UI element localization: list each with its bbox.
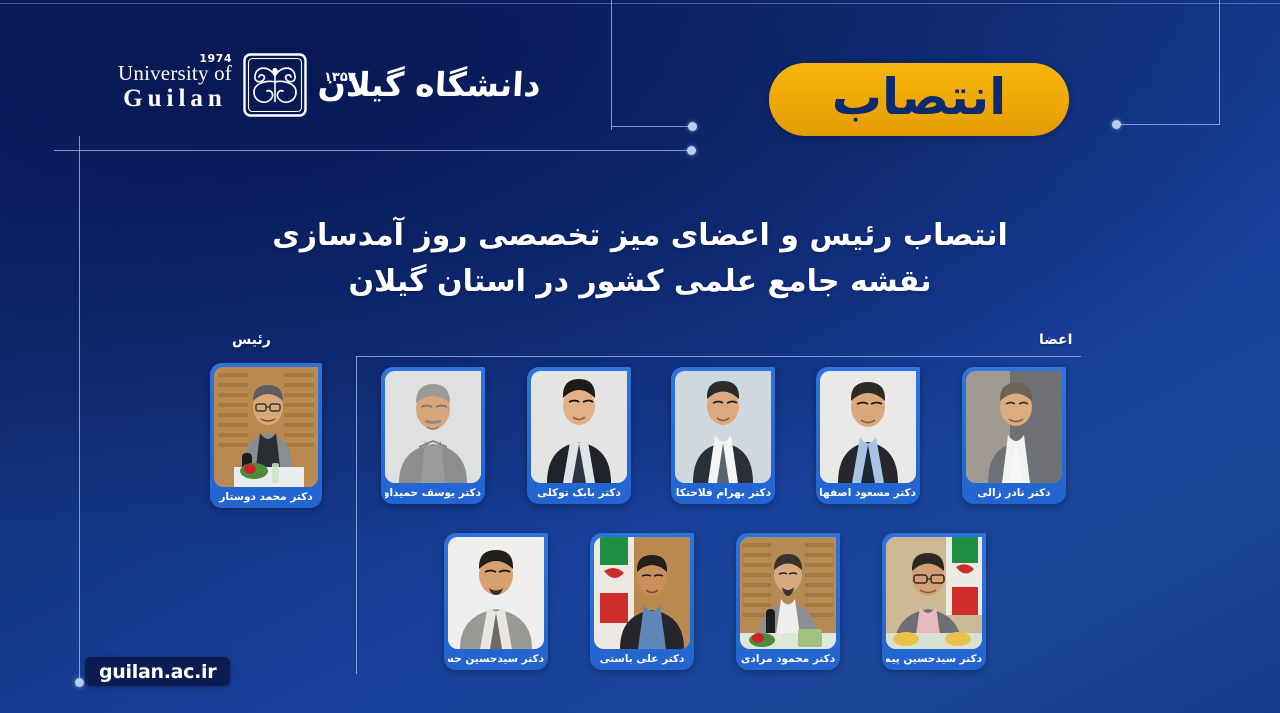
portrait-photo [675, 371, 771, 483]
portrait-photo [214, 367, 318, 487]
decor-dot-right [1112, 120, 1121, 129]
person-card-member[interactable]: دکتر نادر زالی [962, 367, 1066, 504]
logo-name-persian: دانشگاه گیلان [317, 64, 598, 105]
person-card-member[interactable]: دکتر علی باستی [590, 533, 694, 670]
person-name: دکتر بابک توکلی [531, 483, 627, 504]
person-name: دکتر بهرام فلاحتکار [675, 483, 771, 504]
portrait-photo [385, 371, 481, 483]
poster-canvas: 1974 University of Guilan ۱۳۵۳ دانشگاه گ… [0, 0, 1280, 713]
butterfly-emblem-icon [242, 52, 308, 118]
portrait-photo [594, 537, 690, 649]
person-name: دکتر یوسف حمیداوغلی [385, 483, 481, 504]
website-url-text: guilan.ac.ir [99, 661, 216, 683]
logo-line-guilan: Guilan [118, 86, 232, 111]
decor-line-h-lower [54, 150, 692, 151]
page-title-line-2: نقشه جامع علمی کشور در استان گیلان [0, 259, 1280, 305]
person-card-member[interactable]: دکتر یوسف حمیداوغلی [381, 367, 485, 504]
person-card-member[interactable]: دکتر بابک توکلی [527, 367, 631, 504]
status-badge: انتصاب [769, 63, 1069, 136]
person-name: دکتر سیدحسین پیمان [886, 649, 982, 670]
person-card-member[interactable]: دکتر مسعود اصفهانی [816, 367, 920, 504]
decor-line-vertical-top-right [1219, 0, 1220, 125]
logo-line-university-of: University of [118, 63, 232, 84]
decor-line-vertical-top-left [611, 0, 612, 130]
status-badge-label: انتصاب [832, 72, 1007, 122]
portrait-photo [886, 537, 982, 649]
university-logo: 1974 University of Guilan ۱۳۵۳ دانشگاه گ… [118, 52, 599, 118]
portrait-photo [740, 537, 836, 649]
portrait-photo [966, 371, 1062, 483]
logo-english-text: 1974 University of Guilan [118, 59, 232, 111]
person-card-member[interactable]: دکتر سیدحسین حسینی‌مقدم [444, 533, 548, 670]
page-title-line-1: انتصاب رئیس و اعضای میز تخصصی روز آمدساز… [0, 213, 1280, 259]
group-label-chair: رئیس [232, 332, 271, 348]
portrait-photo [531, 371, 627, 483]
person-name: دکتر سیدحسین حسینی‌مقدم [448, 649, 544, 670]
decor-line-h-upper [611, 126, 691, 127]
person-name: دکتر محمود مرادی [740, 649, 836, 670]
decor-dot-lower [687, 146, 696, 155]
person-name: دکتر مسعود اصفهانی [820, 483, 916, 504]
logo-persian-text: ۱۳۵۳ دانشگاه گیلان [318, 64, 599, 105]
person-name: دکتر محمد دوستار [214, 487, 318, 508]
members-bracket-side [356, 356, 357, 674]
group-label-members: اعضا [1039, 332, 1072, 348]
decor-dot-bottom-left [75, 678, 84, 687]
website-url-pill[interactable]: guilan.ac.ir [85, 657, 230, 686]
person-card-chair[interactable]: دکتر محمد دوستار [210, 363, 322, 508]
members-bracket-top [356, 356, 1081, 357]
person-card-member[interactable]: دکتر محمود مرادی [736, 533, 840, 670]
portrait-photo [820, 371, 916, 483]
decor-line-top [0, 3, 1280, 4]
portrait-photo [448, 537, 544, 649]
person-name: دکتر علی باستی [594, 649, 690, 670]
page-title: انتصاب رئیس و اعضای میز تخصصی روز آمدساز… [0, 213, 1280, 304]
person-card-member[interactable]: دکتر سیدحسین پیمان [882, 533, 986, 670]
person-card-member[interactable]: دکتر بهرام فلاحتکار [671, 367, 775, 504]
person-name: دکتر نادر زالی [966, 483, 1062, 504]
logo-year-english: 1974 [199, 53, 232, 64]
decor-line-h-right [1118, 124, 1220, 125]
decor-dot-upper [688, 122, 697, 131]
